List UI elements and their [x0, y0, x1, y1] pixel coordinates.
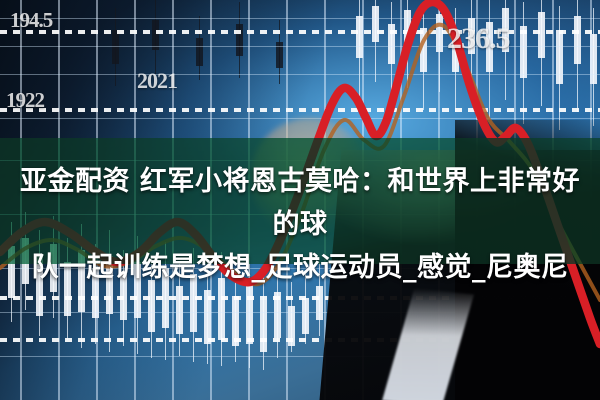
headline-text: 亚金配资 红军小将恩古莫哈：和世界上非常好的球 队一起训练是梦想_足球运动员_感… — [0, 160, 600, 289]
axis-number: 2021 — [137, 68, 177, 94]
headline-line-2: 队一起训练是梦想_足球运动员_感觉_尼奥尼 — [0, 246, 600, 289]
axis-number: 236.5 — [447, 22, 510, 56]
banner-image: 194.519222021236.5 亚金配资 红军小将恩古莫哈：和世界上非常好… — [0, 0, 600, 400]
headline-line-1: 亚金配资 红军小将恩古莫哈：和世界上非常好的球 — [0, 160, 600, 246]
axis-number: 194.5 — [10, 8, 52, 33]
axis-number: 1922 — [6, 88, 44, 113]
